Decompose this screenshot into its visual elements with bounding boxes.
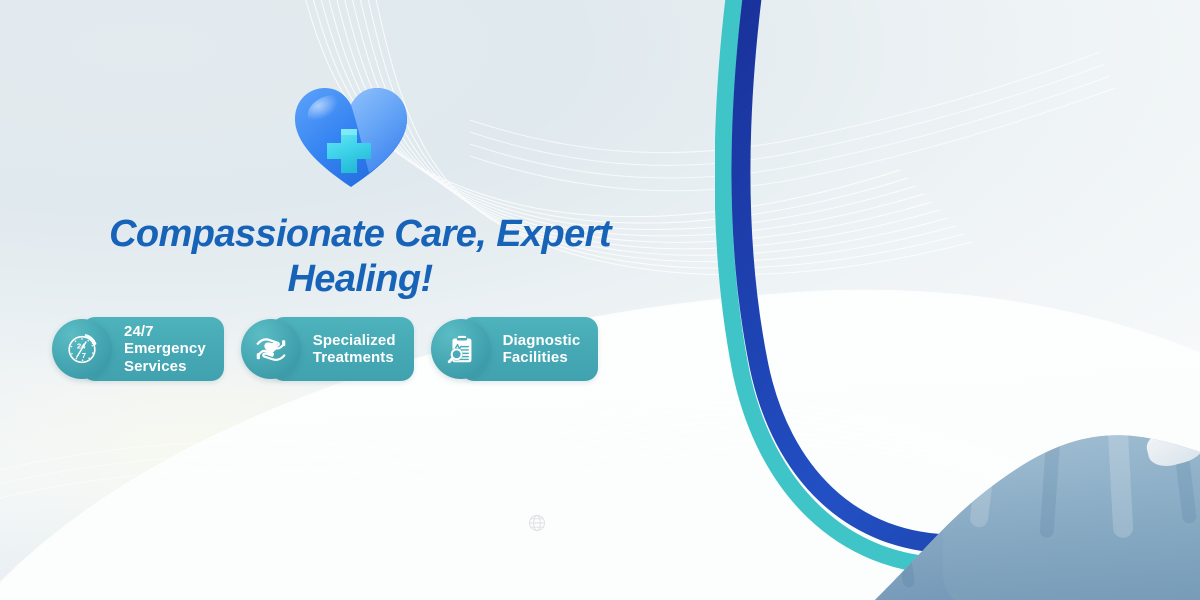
feature-badge-list: 24/7 Emergency Services — [52, 313, 598, 385]
page-title: Compassionate Care, Expert Healing! — [60, 212, 660, 302]
feature-badge-label: 24/7 Emergency Services — [124, 323, 206, 375]
feature-badge-label: Diagnostic Facilities — [503, 332, 581, 367]
hands-holding-heart-icon — [241, 319, 301, 379]
content-column: Compassionate Care, Expert Healing! 24/7… — [0, 0, 700, 600]
clock-24-7-icon: 24 7 — [52, 319, 112, 379]
operating-room-surgeons-photo: 9872 148 — [715, 0, 1200, 600]
feature-badge-diagnostic[interactable]: Diagnostic Facilities — [431, 313, 599, 385]
feature-badge-specialized[interactable]: Specialized Treatments — [241, 313, 414, 385]
clipboard-magnifier-icon — [431, 319, 491, 379]
hero-banner: Compassionate Care, Expert Healing! 24/7… — [0, 0, 1200, 600]
feature-badge-emergency[interactable]: 24/7 Emergency Services — [52, 313, 224, 385]
feature-badge-label: Specialized Treatments — [313, 332, 396, 367]
heart-medical-cross-icon — [289, 79, 414, 194]
svg-text:7: 7 — [82, 351, 86, 360]
